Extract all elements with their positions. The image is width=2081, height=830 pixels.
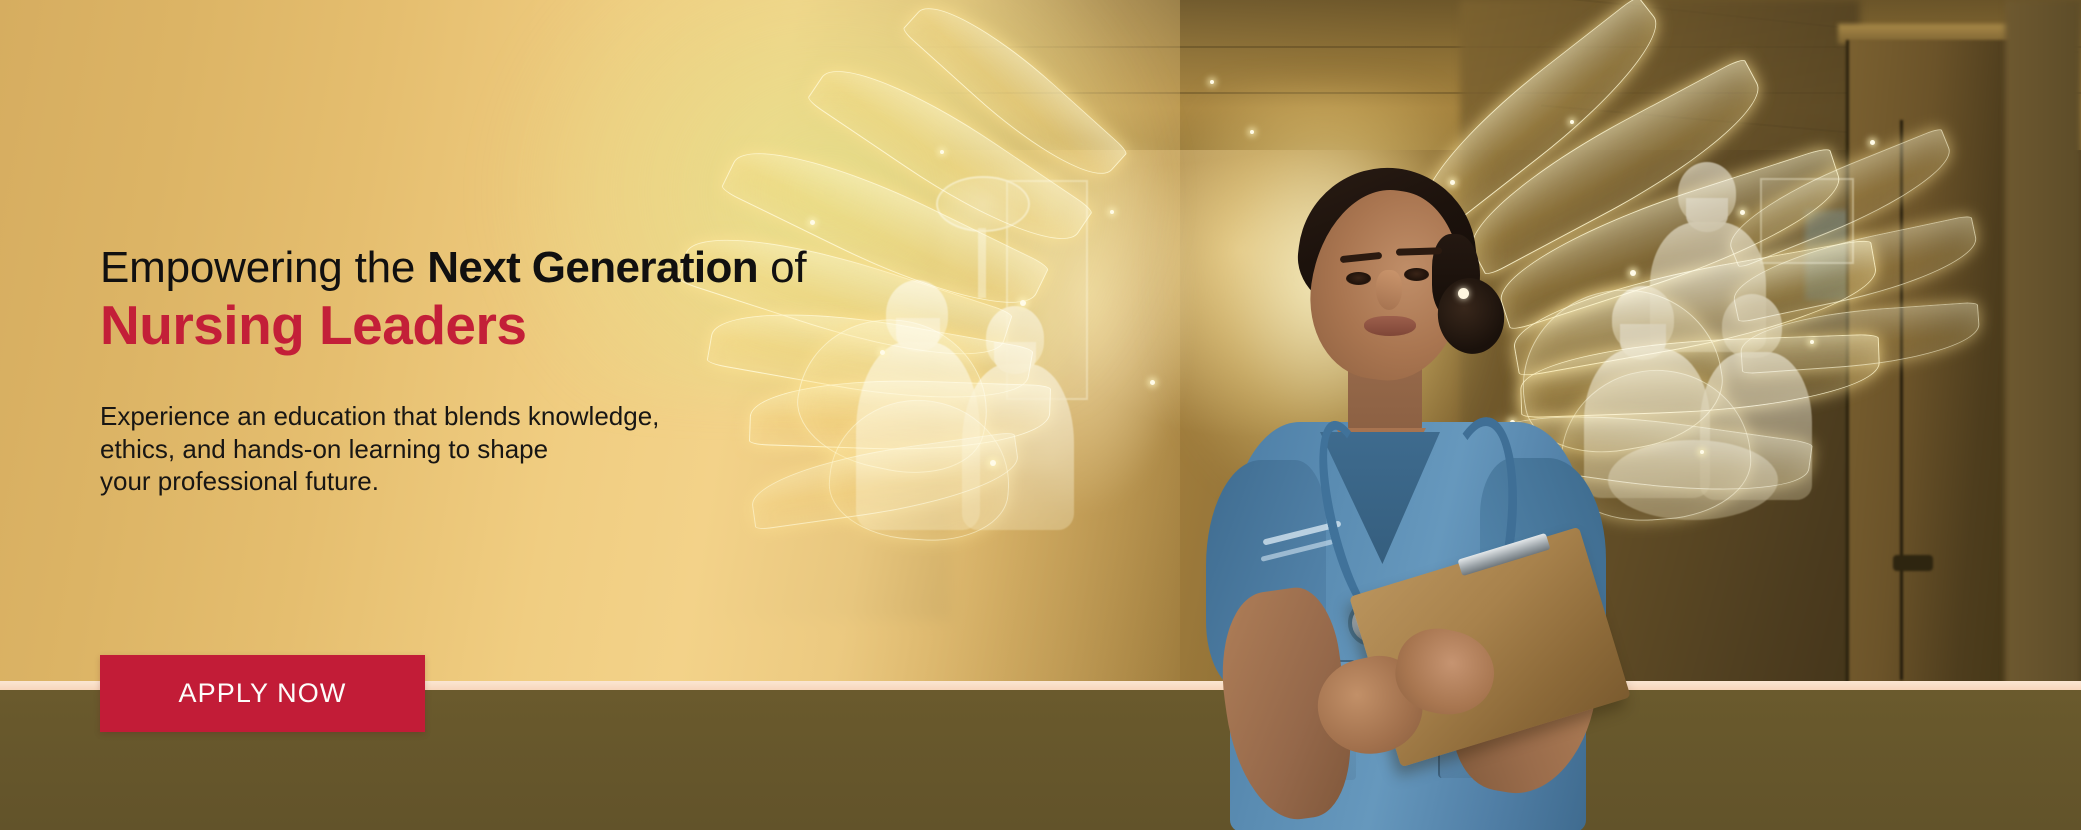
surgical-lamp-arm — [978, 228, 986, 298]
sparkle — [1250, 130, 1254, 134]
sparkle — [1020, 300, 1026, 306]
earring-icon — [1458, 288, 1469, 299]
sparkle — [990, 460, 996, 466]
sparkle — [1870, 140, 1875, 145]
hero-subcopy: Experience an education that blends know… — [100, 400, 860, 498]
nurse-figure — [1200, 160, 1620, 830]
subcopy-line-2: ethics, and hands-on learning to shape — [100, 433, 860, 466]
ghost-patient — [1608, 440, 1778, 520]
sparkle — [1150, 380, 1155, 385]
ghost-monitor — [1760, 178, 1854, 264]
sparkle — [1110, 210, 1114, 214]
nurse-lips — [1364, 316, 1416, 336]
nurse-nose — [1376, 270, 1402, 310]
sparkle — [940, 150, 944, 154]
sparkle — [1210, 80, 1214, 84]
far-right-wall — [2005, 0, 2081, 690]
sparkle — [1570, 120, 1574, 124]
ghost-head — [1722, 294, 1782, 358]
apply-now-button[interactable]: APPLY NOW — [100, 655, 425, 732]
nurse-eye-left — [1346, 272, 1371, 285]
ghost-body — [962, 364, 1074, 530]
headline-line-1: Empowering the Next Generation of — [100, 246, 860, 291]
sparkle — [880, 350, 885, 355]
headline-pre: Empowering the — [100, 243, 427, 292]
sparkle — [810, 220, 815, 225]
sparkle — [1700, 450, 1704, 454]
headline-line-2: Nursing Leaders — [100, 295, 860, 357]
ghost-surgical-team-left — [810, 170, 1170, 530]
sparkle — [1630, 270, 1636, 276]
sparkle — [1740, 210, 1745, 215]
hero-banner: Empowering the Next Generation of Nursin… — [0, 0, 2081, 830]
hero-copy: Empowering the Next Generation of Nursin… — [100, 246, 860, 498]
sparkle — [1810, 340, 1814, 344]
headline-emphasis: Next Generation — [427, 243, 758, 292]
apply-now-label: APPLY NOW — [179, 678, 347, 709]
headline-post: of — [758, 243, 806, 292]
nurse-eye-right — [1404, 268, 1429, 281]
subcopy-line-1: Experience an education that blends know… — [100, 400, 860, 433]
subcopy-line-3: your professional future. — [100, 465, 860, 498]
